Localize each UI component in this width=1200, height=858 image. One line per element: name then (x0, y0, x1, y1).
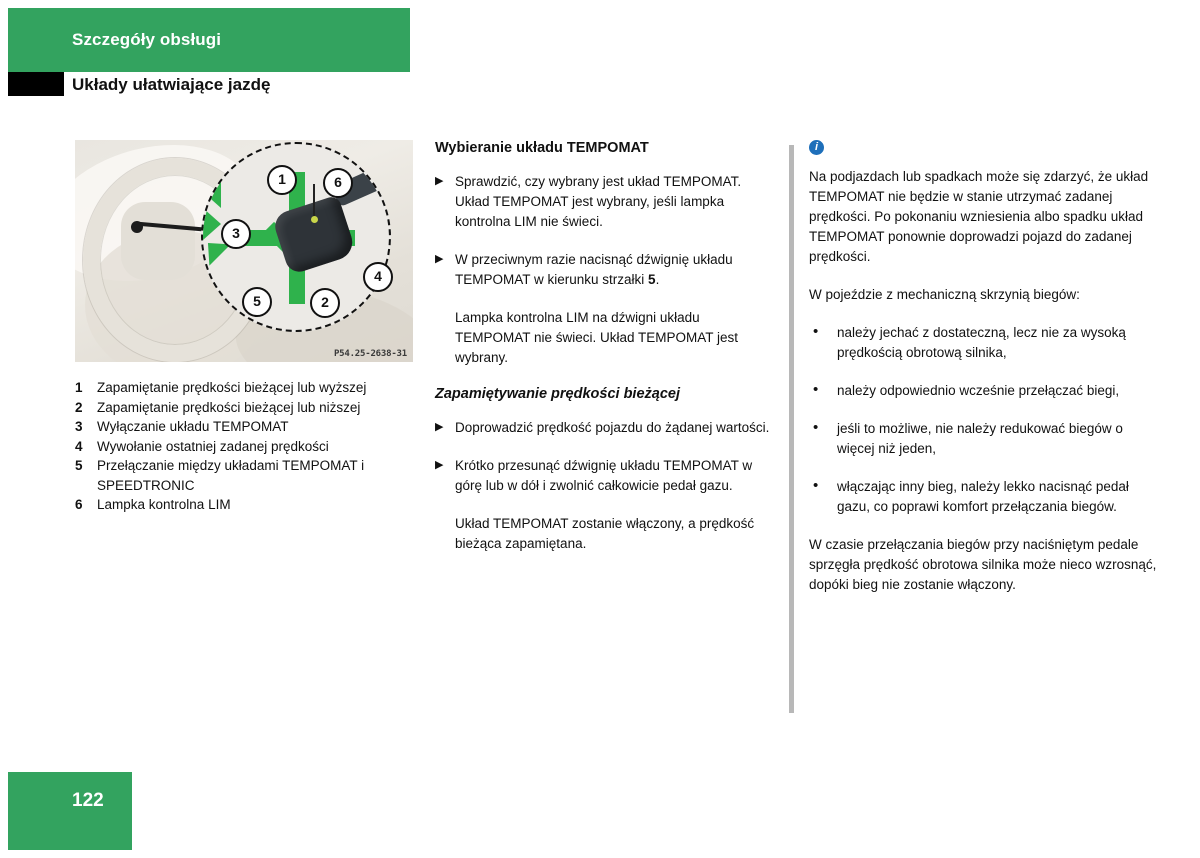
lever-knob (131, 221, 143, 233)
instruction-text: Krótko przesunąć dźwignię układu TEMPOMA… (455, 456, 775, 496)
callout-2: 2 (310, 288, 340, 318)
triangle-bullet-icon: ▶ (435, 250, 455, 265)
instruction-text: Doprowadzić prędkość pojazdu do żądanej … (455, 418, 775, 438)
callout-3: 3 (221, 219, 251, 249)
callout-5: 5 (242, 287, 272, 317)
callout-6: 6 (323, 168, 353, 198)
middle-column: Wybieranie układu TEMPOMAT ▶ Sprawdzić, … (435, 140, 775, 572)
legend-number: 5 (75, 456, 97, 476)
instruction-text-part-2: . (656, 272, 660, 287)
list-item: 4 Wywołanie ostatniej zadanej prędkości (75, 437, 415, 457)
legend-number: 1 (75, 378, 97, 398)
arrow-left-icon (203, 176, 221, 208)
result-paragraph: Układ TEMPOMAT zostanie włączony, a pręd… (455, 514, 775, 554)
triangle-bullet-icon: ▶ (435, 418, 455, 433)
right-column: i Na podjazdach lub spadkach może się zd… (809, 140, 1161, 613)
heading-store-current-speed: Zapamiętywanie prędkości bieżącej (435, 386, 775, 402)
instruction-step: ▶ Doprowadzić prędkość pojazdu do żądane… (435, 418, 775, 438)
legend-number: 6 (75, 495, 97, 515)
bullet-text: włączając inny bieg, należy lekko nacisn… (837, 477, 1161, 517)
steering-wheel-hub (121, 202, 195, 280)
heading-select-cruise-control: Wybieranie układu TEMPOMAT (435, 140, 775, 156)
bullet-icon: • (809, 381, 837, 399)
arrow-up-icon (203, 144, 235, 160)
bullet-icon: • (809, 419, 837, 437)
list-item: 5 Przełączanie między układami TEMPOMAT … (75, 456, 415, 495)
callout-4: 4 (363, 262, 393, 292)
tempomat-lever-illustration: 1 2 3 4 5 6 P54.25-2638-31 (75, 140, 413, 362)
list-item: • jeśli to możliwe, nie należy redukować… (809, 419, 1161, 459)
lever-pointer-line (313, 184, 315, 218)
bullet-text: jeśli to możliwe, nie należy redukować b… (837, 419, 1161, 459)
list-item: 3 Wyłączanie układu TEMPOMAT (75, 417, 415, 437)
list-item: 1 Zapamiętanie prędkości bieżącej lub wy… (75, 378, 415, 398)
legend-label: Lampka kontrolna LIM (97, 495, 415, 515)
triangle-bullet-icon: ▶ (435, 456, 455, 471)
result-paragraph: Lampka kontrolna LIM na dźwigni układu T… (455, 308, 775, 368)
page-title: Układy ułatwiające jazdę (72, 75, 270, 95)
arrow-down-icon (203, 160, 235, 176)
list-item: • należy jechać z dostateczną, lecz nie … (809, 323, 1161, 363)
manual-gearbox-intro: W pojeździe z mechaniczną skrzynią biegó… (809, 285, 1161, 305)
left-column: 1 2 3 4 5 6 P54.25-2638-31 1 Zapamiętani… (75, 140, 415, 515)
list-item: 6 Lampka kontrolna LIM (75, 495, 415, 515)
closing-paragraph: W czasie przełączania biegów przy naciśn… (809, 535, 1161, 595)
list-item: 2 Zapamiętanie prędkości bieżącej lub ni… (75, 398, 415, 418)
page-number: 122 (72, 790, 104, 812)
note-paragraph: Na podjazdach lub spadkach może się zdar… (809, 167, 1161, 267)
legend-number: 2 (75, 398, 97, 418)
instruction-step: ▶ W przeciwnym razie nacisnąć dźwignię u… (435, 250, 775, 290)
triangle-bullet-icon: ▶ (435, 172, 455, 187)
list-item: • włączając inny bieg, należy lekko naci… (809, 477, 1161, 517)
legend-number: 4 (75, 437, 97, 457)
instruction-text: Sprawdzić, czy wybrany jest układ TEMPOM… (455, 172, 775, 232)
list-item: • należy odpowiednio wcześnie przełączać… (809, 381, 1161, 401)
arrow-reference-number: 5 (648, 272, 656, 287)
footer-band (8, 772, 132, 850)
legend-label: Zapamiętanie prędkości bieżącej lub niżs… (97, 398, 415, 418)
instruction-text: W przeciwnym razie nacisnąć dźwignię ukł… (455, 250, 775, 290)
callout-1: 1 (267, 165, 297, 195)
legend-label: Wywołanie ostatniej zadanej prędkości (97, 437, 415, 457)
bullet-text: należy odpowiednio wcześnie przełączać b… (837, 381, 1161, 401)
bullet-text: należy jechać z dostateczną, lecz nie za… (837, 323, 1161, 363)
legend-label: Zapamiętanie prędkości bieżącej lub wyżs… (97, 378, 415, 398)
legend-number: 3 (75, 417, 97, 437)
chapter-label: Szczegóły obsługi (72, 30, 221, 50)
legend-label: Przełączanie między układami TEMPOMAT i … (97, 456, 415, 495)
figure-legend-list: 1 Zapamiętanie prędkości bieżącej lub wy… (75, 378, 415, 515)
instruction-text-part-1: W przeciwnym razie nacisnąć dźwignię ukł… (455, 252, 733, 287)
instruction-step: ▶ Sprawdzić, czy wybrany jest układ TEMP… (435, 172, 775, 232)
bullet-icon: • (809, 323, 837, 341)
bullet-icon: • (809, 477, 837, 495)
figure-code: P54.25-2638-31 (334, 349, 407, 359)
section-marker-tab (8, 72, 64, 96)
info-icon: i (809, 140, 824, 155)
instruction-step: ▶ Krótko przesunąć dźwignię układu TEMPO… (435, 456, 775, 496)
lim-indicator-lamp-icon (311, 216, 318, 223)
column-divider (789, 145, 794, 713)
legend-label: Wyłączanie układu TEMPOMAT (97, 417, 415, 437)
